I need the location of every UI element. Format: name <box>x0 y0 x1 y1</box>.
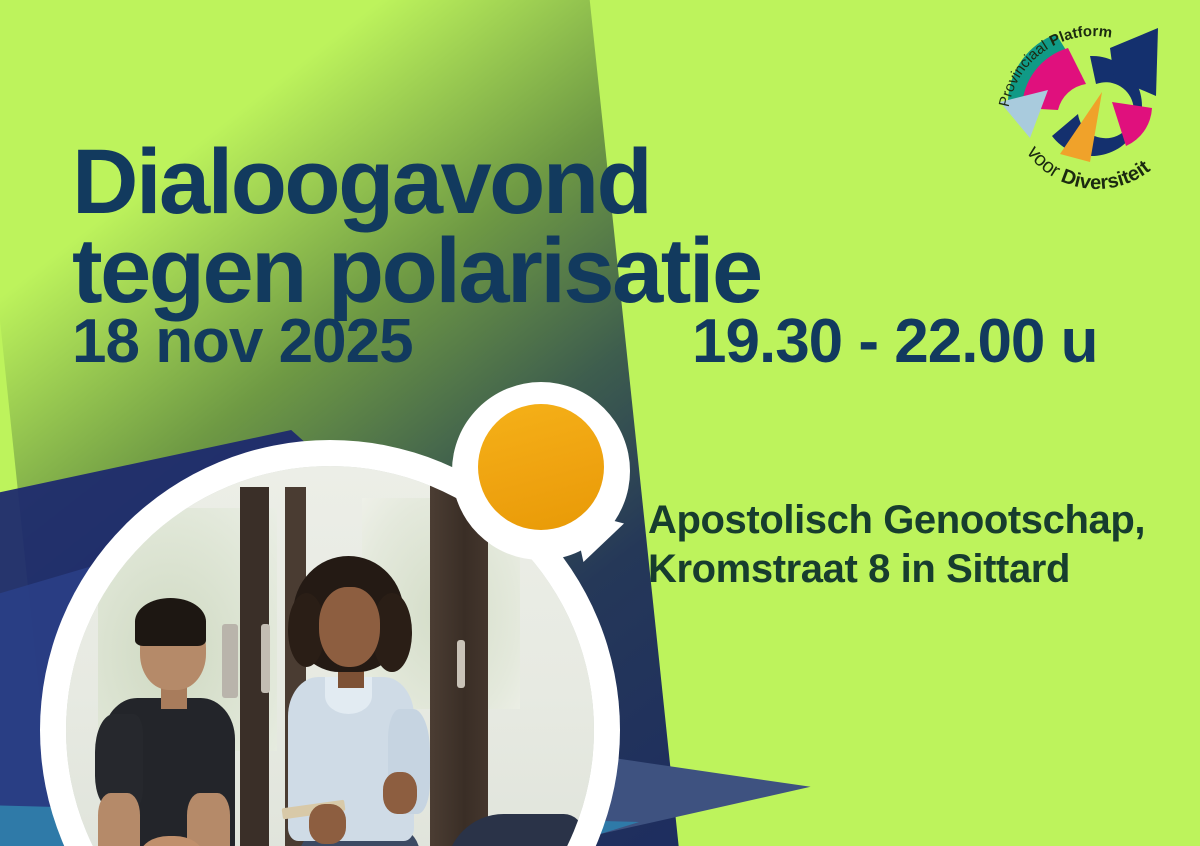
photo-person-left-arm-a <box>98 793 140 846</box>
event-venue: Apostolisch Genootschap, Kromstraat 8 in… <box>648 496 1188 594</box>
venue-line-2: Kromstraat 8 in Sittard <box>648 545 1188 594</box>
headline-line-2: tegen polarisatie <box>72 227 1072 316</box>
venue-line-1: Apostolisch Genootschap, <box>648 498 1145 542</box>
logo-top-bold: Platform <box>1047 23 1113 50</box>
page-title: Dialoogavond tegen polarisatie <box>72 138 1072 316</box>
logo-navy-horn <box>1110 28 1158 96</box>
photo-person-right-face <box>319 587 380 666</box>
logo-bottom-bold: Diversiteit <box>1058 156 1154 194</box>
photo-person-right-hand-b <box>309 804 346 844</box>
speech-bubble-orange-dot <box>478 404 604 530</box>
photo-door-handle-2 <box>261 624 269 693</box>
speech-bubble-icon <box>452 382 630 560</box>
photo-door-handle-1 <box>222 624 238 698</box>
photo-person-left-hair <box>135 598 206 646</box>
photo-person-left-arm-b <box>187 793 229 846</box>
event-meta-row: 18 nov 2025 19.30 - 22.00 u <box>72 306 1182 377</box>
event-date: 18 nov 2025 <box>72 306 692 377</box>
photo-person-right-hand-a <box>383 772 417 814</box>
event-poster: Dialoogavond tegen polarisatie 18 nov 20… <box>0 0 1200 846</box>
headline-line-1: Dialoogavond <box>72 131 650 233</box>
photo-door-handle-3 <box>457 640 465 688</box>
event-time: 19.30 - 22.00 u <box>692 306 1098 377</box>
organization-logo[interactable]: Provinciaal Platform voor Diversiteit <box>990 4 1190 204</box>
